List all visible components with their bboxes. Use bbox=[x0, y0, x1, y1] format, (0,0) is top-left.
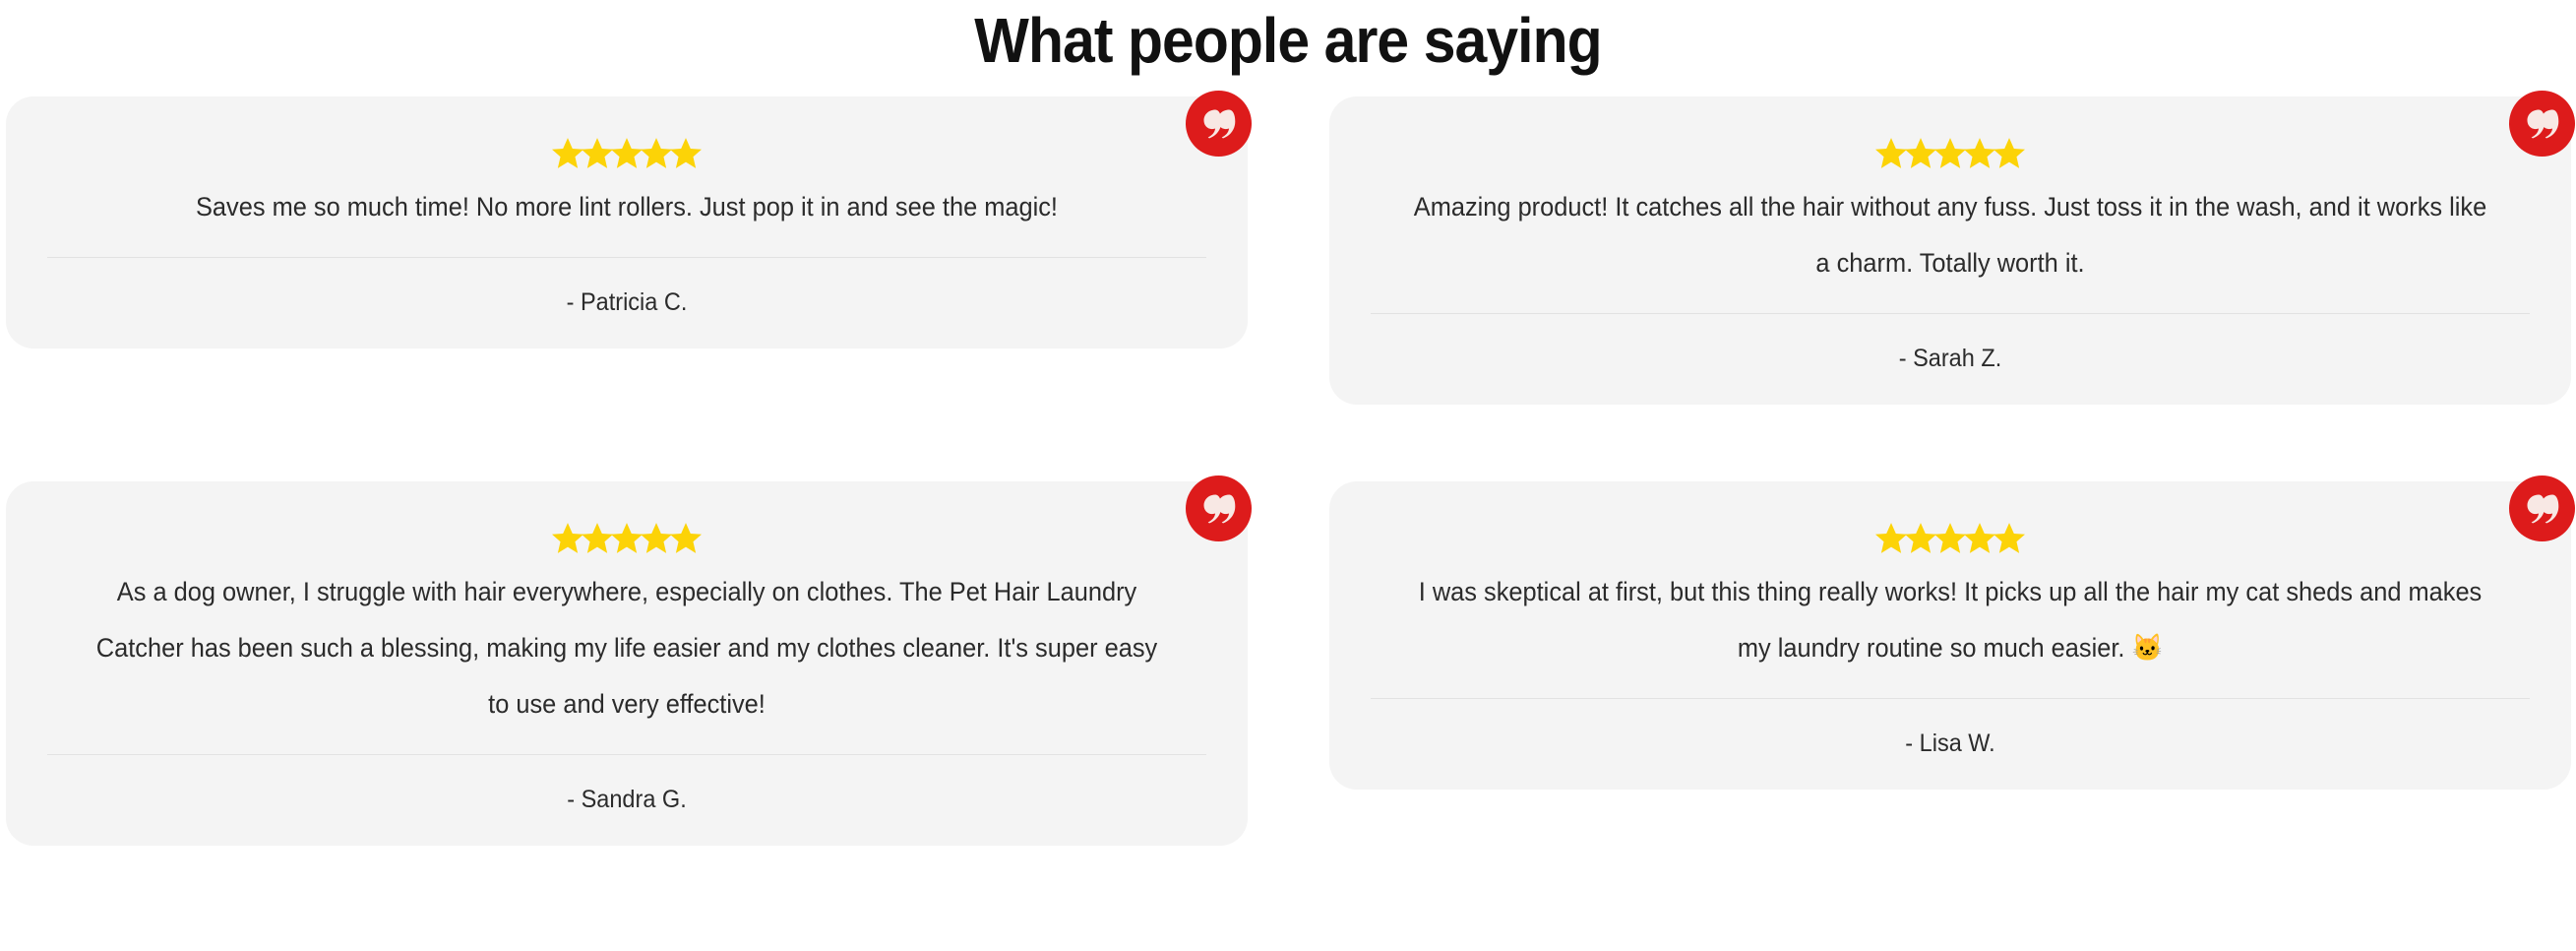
review-text: As a dog owner, I struggle with hair eve… bbox=[82, 564, 1171, 732]
divider bbox=[1371, 313, 2530, 314]
star-rating bbox=[1371, 515, 2530, 560]
star-icon bbox=[1993, 523, 2025, 553]
star-rating bbox=[1371, 130, 2530, 175]
star-icon bbox=[1964, 138, 1995, 168]
star-icon bbox=[582, 138, 613, 168]
star-icon bbox=[611, 138, 643, 168]
page-title: What people are saying bbox=[103, 0, 2474, 77]
star-rating bbox=[47, 515, 1206, 560]
testimonials-section: What people are saying Saves me so much … bbox=[0, 0, 2576, 951]
star-icon bbox=[670, 523, 702, 553]
star-icon bbox=[582, 523, 613, 553]
star-icon bbox=[611, 523, 643, 553]
divider bbox=[1371, 698, 2530, 699]
review-text: Amazing product! It catches all the hair… bbox=[1405, 179, 2494, 291]
star-icon bbox=[552, 523, 583, 553]
star-rating bbox=[47, 130, 1206, 175]
review-author: - Sandra G. bbox=[82, 783, 1171, 816]
testimonial-card: As a dog owner, I struggle with hair eve… bbox=[6, 481, 1248, 846]
review-author: - Patricia C. bbox=[82, 285, 1171, 319]
star-icon bbox=[1964, 523, 1995, 553]
divider bbox=[47, 754, 1206, 755]
testimonial-card: Saves me so much time! No more lint roll… bbox=[6, 96, 1248, 349]
quote-icon bbox=[1186, 91, 1252, 157]
review-text: I was skeptical at first, but this thing… bbox=[1405, 564, 2494, 676]
star-icon bbox=[1993, 138, 2025, 168]
review-text: Saves me so much time! No more lint roll… bbox=[82, 179, 1171, 235]
testimonials-grid: Saves me so much time! No more lint roll… bbox=[0, 96, 2576, 846]
star-icon bbox=[1934, 523, 1966, 553]
divider bbox=[47, 257, 1206, 258]
star-icon bbox=[1875, 138, 1907, 168]
star-icon bbox=[552, 138, 583, 168]
testimonial-card: Amazing product! It catches all the hair… bbox=[1329, 96, 2571, 405]
star-icon bbox=[1905, 138, 1936, 168]
quote-icon bbox=[1186, 475, 1252, 541]
star-icon bbox=[1905, 523, 1936, 553]
review-author: - Sarah Z. bbox=[1405, 342, 2494, 375]
testimonial-card: I was skeptical at first, but this thing… bbox=[1329, 481, 2571, 790]
star-icon bbox=[641, 138, 672, 168]
star-icon bbox=[670, 138, 702, 168]
star-icon bbox=[641, 523, 672, 553]
review-author: - Lisa W. bbox=[1405, 727, 2494, 760]
quote-icon bbox=[2509, 91, 2575, 157]
quote-icon bbox=[2509, 475, 2575, 541]
star-icon bbox=[1875, 523, 1907, 553]
star-icon bbox=[1934, 138, 1966, 168]
